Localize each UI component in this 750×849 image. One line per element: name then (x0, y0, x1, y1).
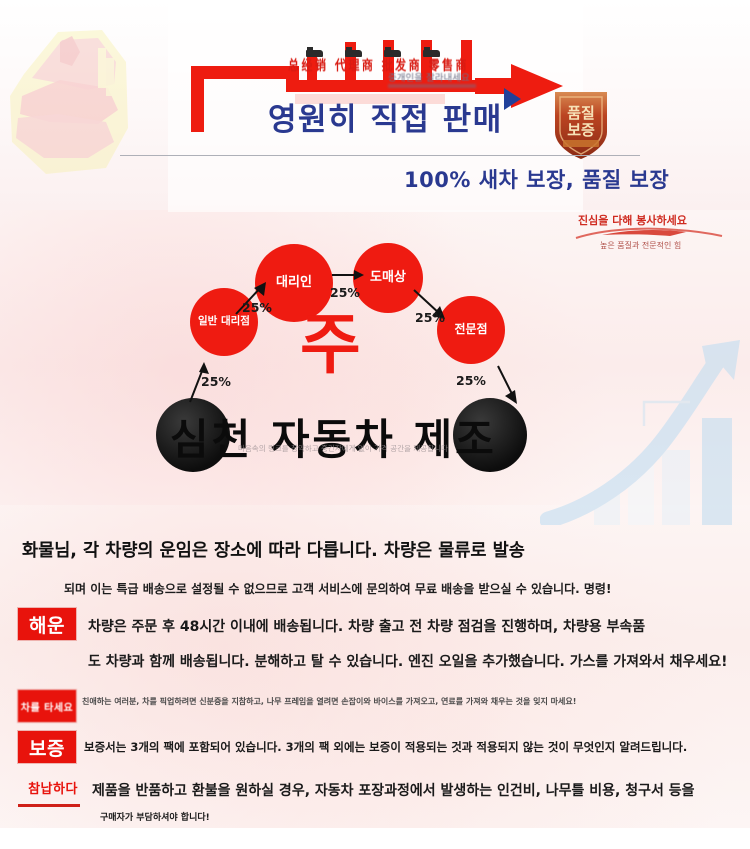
service-stamp: 진심을 다해 봉사하세요 높은 품질과 전문적인 힘 (570, 212, 740, 258)
tag-shipping: 해운 (18, 608, 76, 640)
promo-page: 总经销 代理商 批发商 零售商 중개인을 잘라내세요 영원히 직접 판매 품질 … (0, 0, 750, 849)
diagram-node-label: 대리인 (276, 276, 312, 290)
refund-text-line2: 구매자가 부담하셔야 합니다! (100, 810, 210, 823)
shipping-text-line1: 차량은 주문 후 48시간 이내에 배송됩니다. 차량 출고 전 차량 점검을 … (88, 616, 645, 636)
tag-ride: 차를 타세요 (18, 690, 76, 722)
header-divider (120, 155, 640, 156)
service-stamp-line2: 높은 품질과 전문적인 힘 (600, 240, 681, 251)
diagram-node-label: 전문점 (454, 323, 487, 336)
markup-label-2: 25% (242, 300, 272, 315)
page-subtitle: 100% 새차 보장, 품질 보장 (404, 164, 669, 194)
brand-title: 심천 자동차 제조 (170, 406, 497, 467)
diagram-node-label: 도매상 (370, 271, 406, 285)
notice-lead-line1: 화물님, 각 차량의 운임은 장소에 따라 다릅니다. 차량은 물류로 발송 (22, 537, 525, 562)
arrow-down-right-icon-2 (490, 362, 528, 406)
bottom-spacer (0, 828, 750, 849)
markup-label-3: 25% (330, 285, 360, 300)
page-title: 영원히 직접 판매 (268, 94, 503, 139)
tag-refund-underline (18, 804, 80, 807)
service-stamp-line1: 진심을 다해 봉사하세요 (578, 212, 687, 228)
brand-subtitle: 마음속의 링크를 장악하고 중간자에게 없이 가격 공간을 제공합니다 (238, 443, 448, 454)
growth-arrow-chart-icon (540, 330, 750, 525)
center-brand-mark: 주 (300, 312, 361, 378)
warranty-text-line1: 보증서는 3개의 팩에 포함되어 있습니다. 3개의 팩 외에는 보증이 적용되… (84, 739, 687, 755)
tag-warranty: 보증 (18, 731, 76, 763)
markup-label-5: 25% (456, 373, 486, 388)
fist-icon (2, 18, 134, 180)
stamp-swoosh-icon (574, 227, 724, 240)
ride-text-line1: 친애하는 여러분, 차를 픽업하려면 신분증을 지참하고, 나무 프레임을 열려… (82, 696, 576, 707)
notice-lead-line2: 되며 이는 특급 배송으로 설정될 수 없으므로 고객 서비스에 문의하여 무료… (64, 580, 611, 597)
shipping-text-line2: 도 차량과 함께 배송됩니다. 분해하고 탈 수 있습니다. 엔진 오일을 추가… (88, 651, 728, 671)
cut-middleman-strike (388, 84, 476, 88)
arrow-right-icon (332, 267, 366, 283)
markup-label-4: 25% (415, 310, 445, 325)
quality-shield-badge: 품질 보증 (551, 88, 611, 162)
markup-label-1: 25% (201, 374, 231, 389)
refund-text-line1: 제품을 반품하고 환불을 원하실 경우, 자동차 포장과정에서 발생하는 인건비… (92, 780, 695, 800)
cut-middleman-label: 중개인을 잘라내세요 (388, 70, 470, 84)
play-triangle-icon (504, 88, 521, 110)
svg-text:품질: 품질 (567, 104, 595, 122)
svg-text:보증: 보증 (567, 121, 595, 139)
tag-refund: 참납하다 (18, 777, 88, 797)
